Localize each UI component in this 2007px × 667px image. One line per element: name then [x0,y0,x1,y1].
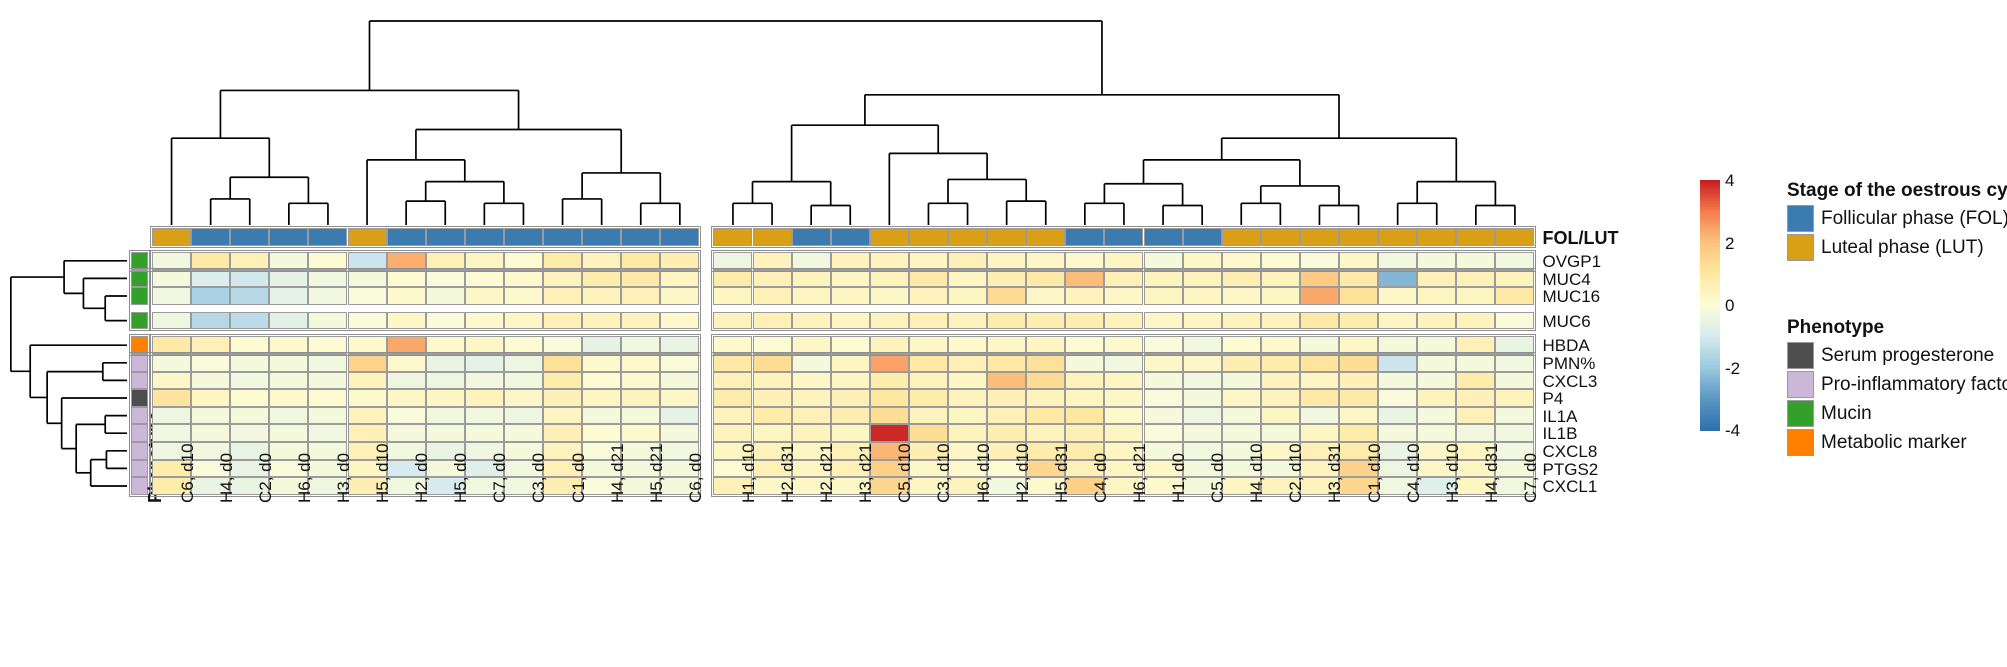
stage-annotation-cell [1378,228,1417,246]
heatmap-cell [308,424,347,442]
heatmap-cell [152,312,191,330]
row-label: MUC4 [1543,271,1591,288]
stage-annotation-cell [1417,228,1456,246]
heatmap-cell [1222,407,1261,425]
heatmap-cell [1300,389,1339,407]
heatmap-cell [426,372,465,390]
stage-annotation-cell [543,228,582,246]
heatmap-cell [387,424,426,442]
heatmap-cell [621,312,660,330]
heatmap-cell [831,424,870,442]
heatmap-cell [1300,372,1339,390]
heatmap-cell [504,336,543,354]
heatmap-cell [1183,424,1222,442]
row-label: IL1A [1543,408,1578,425]
heatmap-cell [426,424,465,442]
heatmap-cell [1300,312,1339,330]
heatmap-cell [230,424,269,442]
heatmap-cell [191,354,230,372]
heatmap-cell [909,270,948,288]
heatmap-cell [1378,407,1417,425]
heatmap-cell [660,372,699,390]
heatmap-cell [1417,287,1456,305]
heatmap-cell [1456,252,1495,270]
heatmap-cell [504,270,543,288]
stage-annotation-cell [387,228,426,246]
heatmap-cell [1417,354,1456,372]
heatmap-cell [1261,287,1300,305]
row-label: MUC6 [1543,313,1591,330]
column-label: H2, d21 [818,443,835,503]
phenotype-legend-label: Mucin [1821,403,1872,425]
column-label: H5, d10 [374,443,391,503]
row-label: CXCL8 [1543,443,1598,460]
heatmap-cell [1104,372,1143,390]
heatmap-cell [792,252,831,270]
heatmap-cell [191,424,230,442]
stage-annotation-cell [1183,228,1222,246]
heatmap-cell [621,287,660,305]
heatmap-cell [909,312,948,330]
stage-annotation-cell [948,228,987,246]
heatmap-cell [1144,287,1183,305]
stage-annotation-cell [348,228,387,246]
heatmap-cell [948,252,987,270]
heatmap-cell [987,407,1026,425]
heatmap-cell [152,287,191,305]
heatmap-cell [1222,424,1261,442]
heatmap-cell [387,336,426,354]
heatmap-cell [713,424,752,442]
heatmap-cell [792,424,831,442]
heatmap-cell [792,287,831,305]
heatmap-cell [1456,336,1495,354]
heatmap-cell [1495,424,1534,442]
heatmap-cell [269,407,308,425]
column-label: C7, d0 [1522,453,1539,503]
heatmap-cell [426,312,465,330]
column-label: C1, d10 [1366,443,1383,503]
column-label: H1, d0 [1170,453,1187,503]
column-label: C3, d0 [530,453,547,503]
heatmap-cell [1378,252,1417,270]
heatmap-cell [582,354,621,372]
heatmap-cell [1104,354,1143,372]
heatmap-cell [1261,424,1300,442]
heatmap-cell [1417,336,1456,354]
heatmap-cell [1261,312,1300,330]
heatmap-cell [792,312,831,330]
color-scale-tick: -2 [1725,359,1740,379]
stage-legend-title: Stage of the oestrous cycle [1787,180,2007,202]
row-label: MUC16 [1543,288,1601,305]
heatmap-cell [948,287,987,305]
heatmap-cell [1183,354,1222,372]
heatmap-cell [753,372,792,390]
heatmap-cell [1026,336,1065,354]
heatmap-cell [1222,312,1261,330]
heatmap-cell [1417,372,1456,390]
heatmap-cell [1417,252,1456,270]
stage-annotation-cell [753,228,792,246]
heatmap-cell [1183,252,1222,270]
heatmap-cell [1456,389,1495,407]
heatmap-cell [582,312,621,330]
heatmap-cell [1104,270,1143,288]
heatmap-cell [191,372,230,390]
heatmap-cell [1222,336,1261,354]
heatmap-cell [753,336,792,354]
heatmap-cell [792,389,831,407]
stage-legend-swatch[interactable] [1787,205,1814,232]
heatmap-cell [1222,270,1261,288]
heatmap-cell [1261,354,1300,372]
stage-annotation-cell [1456,228,1495,246]
heatmap-cell [1456,354,1495,372]
heatmap-cell [948,354,987,372]
heatmap-cell [1144,336,1183,354]
heatmap-cell [948,407,987,425]
stage-legend-label: Luteal phase (LUT) [1821,237,1984,259]
heatmap-cell [660,287,699,305]
heatmap-cell [1144,407,1183,425]
heatmap-cell [426,252,465,270]
column-label: H6, d10 [975,443,992,503]
heatmap-cell [1378,312,1417,330]
heatmap-cell [308,354,347,372]
heatmap-cell [191,287,230,305]
heatmap-cell [191,252,230,270]
heatmap-cell [1456,270,1495,288]
heatmap-cell [753,252,792,270]
color-scale-segment [1700,428,1720,431]
color-scale-tick: 2 [1725,234,1734,254]
heatmap-cell [1026,270,1065,288]
heatmap-cell [1378,424,1417,442]
phenotype-annotation-cell [131,354,148,372]
heatmap-cell [831,354,870,372]
stage-annotation-cell [1495,228,1534,246]
heatmap-cell [230,312,269,330]
heatmap-cell [1065,287,1104,305]
heatmap-cell [1339,407,1378,425]
column-label: H6, d0 [296,453,313,503]
heatmap-cell [621,389,660,407]
heatmap-cell [1378,372,1417,390]
heatmap-cell [426,407,465,425]
heatmap-cell [621,424,660,442]
heatmap-cell [1261,270,1300,288]
heatmap-cell [308,389,347,407]
heatmap-cell [582,407,621,425]
heatmap-cell [1065,252,1104,270]
heatmap-cell [1456,287,1495,305]
heatmap-cell [1456,312,1495,330]
stage-annotation-cell [1065,228,1104,246]
color-scale-tick: -4 [1725,421,1740,441]
column-label: H5, d0 [452,453,469,503]
heatmap-cell [660,252,699,270]
heatmap-cell [582,372,621,390]
heatmap-cell [909,389,948,407]
row-label: OVGP1 [1543,253,1602,270]
heatmap-cell [269,354,308,372]
heatmap-cell [465,336,504,354]
heatmap-cell [1378,270,1417,288]
column-label: C5, d10 [896,443,913,503]
heatmap-cell [387,372,426,390]
heatmap-cell [152,270,191,288]
heatmap-cell [230,270,269,288]
heatmap-cell [1417,270,1456,288]
phenotype-legend-label: Serum progesterone [1821,345,1994,367]
heatmap-cell [543,407,582,425]
heatmap-cell [543,287,582,305]
heatmap-cell [465,270,504,288]
phenotype-annotation-cell [131,270,148,288]
heatmap-cell [426,270,465,288]
stage-annotation-cell [1339,228,1378,246]
stage-annotation-cell [582,228,621,246]
heatmap-cell [387,389,426,407]
heatmap-cell [543,252,582,270]
heatmap-cell [152,252,191,270]
stage-annotation-cell [152,228,191,246]
heatmap-cell [1065,424,1104,442]
heatmap-cell [831,372,870,390]
heatmap-cell [1026,389,1065,407]
heatmap-cell [582,287,621,305]
heatmap-cell [621,407,660,425]
stage-annotation-cell [1300,228,1339,246]
heatmap-cell [543,354,582,372]
heatmap-cell [713,252,752,270]
heatmap-cell [753,270,792,288]
stage-annotation-cell [1261,228,1300,246]
heatmap-cell [713,407,752,425]
heatmap-cell [870,372,909,390]
column-label: C7, d0 [491,453,508,503]
heatmap-cell [987,372,1026,390]
heatmap-cell [465,424,504,442]
heatmap-cell [387,252,426,270]
heatmap-cell [713,336,752,354]
column-label: C3, d10 [935,443,952,503]
stage-annotation-cell [308,228,347,246]
heatmap-cell [870,252,909,270]
stage-annotation-cell [1104,228,1143,246]
heatmap-cell [308,287,347,305]
heatmap-cell [1261,389,1300,407]
heatmap-cell [1378,336,1417,354]
column-label: H4, d21 [609,443,626,503]
heatmap-cell [909,287,948,305]
row-label: IL1B [1543,425,1578,442]
column-label: H3, d10 [1444,443,1461,503]
heatmap-cell [1222,252,1261,270]
heatmap-cell [1261,407,1300,425]
heatmap-cell [1144,270,1183,288]
column-label: H2, d10 [1014,443,1031,503]
phenotype-legend-swatch[interactable] [1787,429,1814,456]
heatmap-cell [582,336,621,354]
heatmap-cell [948,270,987,288]
heatmap-cell [1495,252,1534,270]
column-label: H3, d31 [1326,443,1343,503]
heatmap-cell [387,287,426,305]
heatmap-cell [1261,372,1300,390]
heatmap-cell [1104,287,1143,305]
heatmap-cell [621,372,660,390]
heatmap-cell [1339,389,1378,407]
heatmap-cell [269,389,308,407]
heatmap-cell [792,372,831,390]
stage-annotation-cell [870,228,909,246]
heatmap-cell [1183,287,1222,305]
row-label: HBDA [1543,337,1590,354]
heatmap-cell [1300,354,1339,372]
heatmap-cell [1144,372,1183,390]
heatmap-cell [348,372,387,390]
heatmap-cell [465,372,504,390]
heatmap-cell [987,389,1026,407]
heatmap-cell [1183,389,1222,407]
phenotype-legend-swatch[interactable] [1787,371,1814,398]
heatmap-cell [1144,424,1183,442]
phenotype-annotation-cell [131,287,148,305]
stage-legend-swatch[interactable] [1787,234,1814,261]
heatmap-cell [1339,424,1378,442]
heatmap-cell [713,389,752,407]
heatmap-cell [753,389,792,407]
row-label: P4 [1543,390,1564,407]
heatmap-cell [909,252,948,270]
heatmap-cell [1222,389,1261,407]
stage-legend-label: Follicular phase (FOL) [1821,208,2007,230]
heatmap-cell [1104,336,1143,354]
heatmap-cell [230,287,269,305]
heatmap-cell [152,389,191,407]
heatmap-cell [1378,389,1417,407]
heatmap-cell [348,407,387,425]
heatmap-cell [753,407,792,425]
heatmap-cell [348,336,387,354]
heatmap-cell [152,372,191,390]
heatmap-cell [660,389,699,407]
heatmap-cell [1300,424,1339,442]
column-label: H4, d0 [218,453,235,503]
heatmap-cell [1378,287,1417,305]
heatmap-cell [1495,354,1534,372]
heatmap-cell [753,287,792,305]
heatmap-cell [660,424,699,442]
heatmap-cell [269,270,308,288]
heatmap-cell [230,372,269,390]
heatmap-cell [348,312,387,330]
heatmap-cell [1339,336,1378,354]
heatmap-cell [348,389,387,407]
heatmap-cell [1026,424,1065,442]
phenotype-annotation-cell [131,252,148,270]
phenotype-legend-swatch[interactable] [1787,342,1814,369]
heatmap-cell [1026,407,1065,425]
heatmap-cell [660,336,699,354]
heatmap-cell [152,407,191,425]
heatmap-cell [831,336,870,354]
heatmap-cell [308,336,347,354]
heatmap-cell [621,252,660,270]
heatmap-cell [1104,252,1143,270]
stage-annotation-cell [1026,228,1065,246]
heatmap-cell [543,336,582,354]
heatmap-cell [426,287,465,305]
heatmap-cell [230,336,269,354]
heatmap-cell [504,312,543,330]
column-label: H2, d0 [413,453,430,503]
heatmap-cell [831,270,870,288]
heatmap-cell [543,389,582,407]
stage-annotation-cell [909,228,948,246]
heatmap-cell [387,270,426,288]
heatmap-cell [582,424,621,442]
row-label: PMN% [1543,355,1596,372]
heatmap-cell [308,270,347,288]
heatmap-cell [1065,312,1104,330]
stage-annotation-cell [191,228,230,246]
heatmap-cell [1065,270,1104,288]
row-dendrogram [0,0,152,667]
heatmap-cell [1144,252,1183,270]
heatmap-cell [1104,389,1143,407]
heatmap-cell [308,312,347,330]
heatmap-cell [465,287,504,305]
heatmap-cell [870,287,909,305]
phenotype-legend-swatch[interactable] [1787,400,1814,427]
heatmap-cell [831,389,870,407]
heatmap-cell [504,372,543,390]
heatmap-cell [1378,354,1417,372]
stage-annotation-cell [1222,228,1261,246]
color-scale-tick: 4 [1725,171,1734,191]
heatmap-cell [1222,287,1261,305]
heatmap-cell [909,424,948,442]
heatmap-figure: FOL/LUT Phenotype OVGP1MUC4MUC16MUC6HBDA… [0,0,2007,667]
heatmap-cell [152,336,191,354]
stage-annotation-cell [504,228,543,246]
heatmap-cell [269,336,308,354]
heatmap-cell [1065,389,1104,407]
phenotype-annotation-cell [131,389,148,407]
heatmap-cell [230,354,269,372]
heatmap-cell [504,389,543,407]
heatmap-cell [1026,372,1065,390]
stage-annotation-cell [621,228,660,246]
heatmap-cell [191,407,230,425]
column-label: C4, d0 [1092,453,1109,503]
heatmap-cell [1183,372,1222,390]
heatmap-cell [909,336,948,354]
heatmap-cell [870,407,909,425]
column-label: C2, d0 [257,453,274,503]
heatmap-cell [660,354,699,372]
heatmap-cell [191,312,230,330]
heatmap-cell [1417,424,1456,442]
heatmap-cell [753,354,792,372]
heatmap-cell [660,407,699,425]
heatmap-cell [1183,407,1222,425]
heatmap-cell [1026,287,1065,305]
heatmap-cell [713,312,752,330]
